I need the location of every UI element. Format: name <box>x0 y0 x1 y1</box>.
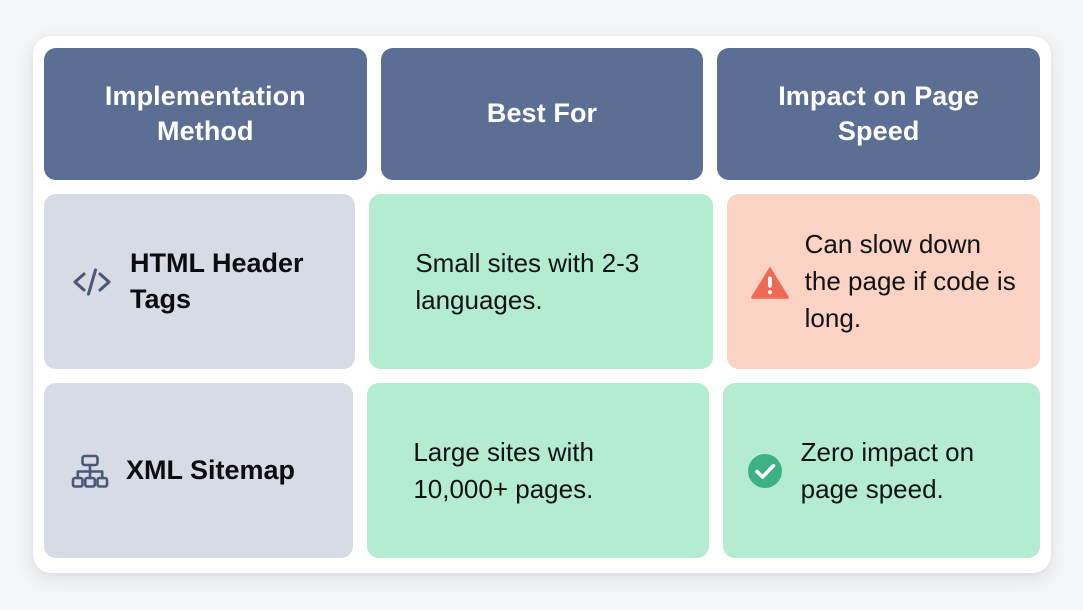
column-header-label: Best For <box>487 96 597 131</box>
table-row: HTML Header Tags Small sites with 2-3 la… <box>44 194 1040 369</box>
cell-impact-on-page-speed: Zero impact on page speed. <box>723 383 1040 558</box>
cell-implementation-method: HTML Header Tags <box>44 194 355 369</box>
code-icon <box>70 260 114 304</box>
page-background: Implementation Method Best For Impact on… <box>0 0 1083 610</box>
best-for-text: Small sites with 2-3 languages. <box>415 245 682 319</box>
cell-implementation-method: XML Sitemap <box>44 383 353 558</box>
column-header-implementation-method: Implementation Method <box>44 48 367 180</box>
comparison-table-card: Implementation Method Best For Impact on… <box>33 36 1051 573</box>
column-header-impact-on-page-speed: Impact on Page Speed <box>717 48 1040 180</box>
cell-impact-on-page-speed: Can slow down the page if code is long. <box>727 194 1040 369</box>
column-header-label: Implementation Method <box>75 79 335 149</box>
best-for-text: Large sites with 10,000+ pages. <box>413 434 678 508</box>
check-circle-icon <box>745 451 785 491</box>
warning-triangle-icon <box>749 261 791 303</box>
table-row: XML Sitemap Large sites with 10,000+ pag… <box>44 383 1040 558</box>
impact-text: Can slow down the page if code is long. <box>805 226 1016 337</box>
sitemap-hierarchy-icon <box>70 451 110 491</box>
column-header-label: Impact on Page Speed <box>754 79 1004 149</box>
column-header-best-for: Best For <box>381 48 704 180</box>
cell-best-for: Small sites with 2-3 languages. <box>369 194 712 369</box>
cell-best-for: Large sites with 10,000+ pages. <box>367 383 708 558</box>
method-label: HTML Header Tags <box>130 246 337 318</box>
impact-text: Zero impact on page speed. <box>801 434 1010 508</box>
method-label: XML Sitemap <box>126 453 295 489</box>
table-header-row: Implementation Method Best For Impact on… <box>44 48 1040 180</box>
